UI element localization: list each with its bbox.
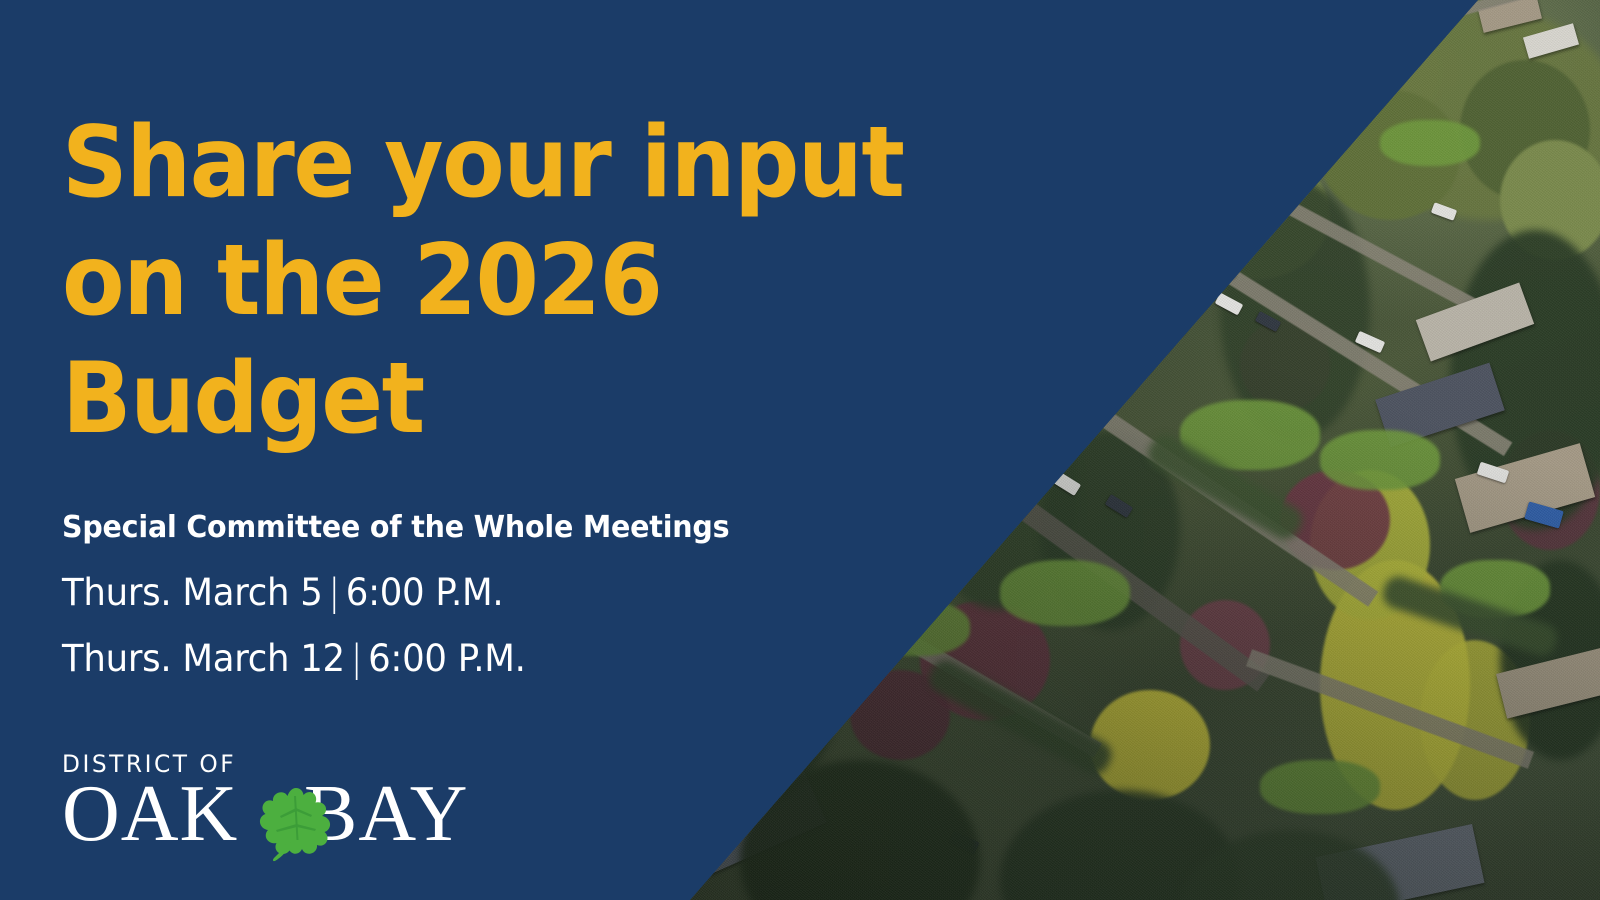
- logo-word-oak: OAK: [62, 778, 238, 850]
- meeting-time: 6:00 P.M.: [368, 637, 526, 680]
- oak-bay-logo: DISTRICT OF OAK BAY: [62, 751, 482, 850]
- meeting-date: Thurs. March 12: [62, 637, 345, 680]
- poster-content: Share your input on the 2026 Budget Spec…: [62, 104, 1062, 692]
- meeting-date-row: Thurs. March 5|6:00 P.M.: [62, 560, 1022, 626]
- date-time-separator: |: [345, 637, 368, 680]
- logo-wordmark: OAK BAY: [62, 778, 482, 850]
- page-title: Share your input on the 2026 Budget: [62, 104, 992, 458]
- meeting-date-row: Thurs. March 12|6:00 P.M.: [62, 626, 1022, 692]
- meeting-date: Thurs. March 5: [62, 571, 323, 614]
- date-time-separator: |: [323, 571, 346, 614]
- meeting-time: 6:00 P.M.: [346, 571, 504, 614]
- oak-leaf-icon: [244, 782, 348, 862]
- meeting-subtitle: Special Committee of the Whole Meetings: [62, 510, 1012, 546]
- budget-announcement-poster: Share your input on the 2026 Budget Spec…: [0, 0, 1600, 900]
